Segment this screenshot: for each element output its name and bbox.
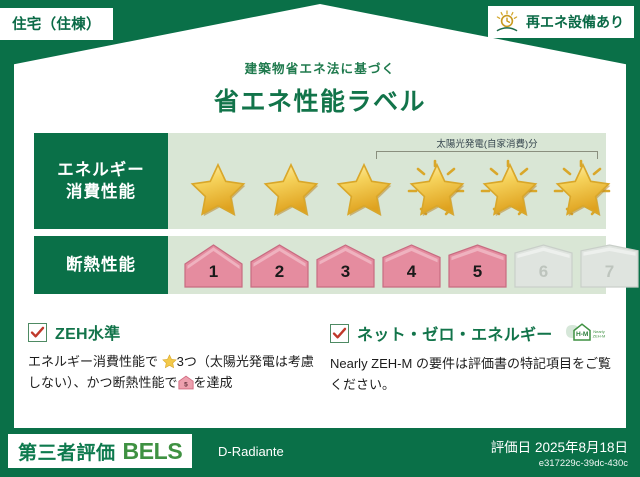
building-name: D-Radiante	[218, 444, 284, 459]
solar-annotation-label: 太陽光発電(自家消費)分	[376, 136, 598, 150]
nze-note-title: ネット・ゼロ・エネルギー	[357, 321, 553, 345]
nze-checkbox[interactable]	[330, 324, 349, 343]
page-title: 建築物省エネ法に基づく 省エネ性能ラベル	[0, 58, 640, 118]
insulation-grade-4: 4	[380, 242, 443, 290]
energy-performance-row: エネルギー 消費性能 太陽光発電(自家消費)分	[34, 133, 606, 229]
inline-star-icon	[162, 354, 177, 369]
checkmark-icon	[332, 326, 347, 341]
grade-number: 5	[446, 262, 509, 282]
insulation-label-text: 断熱性能	[66, 254, 136, 276]
star-icon	[408, 162, 466, 218]
insulation-grade-2: 2	[248, 242, 311, 290]
bels-badge: 第三者評価 BELS	[8, 434, 192, 468]
energy-performance-label: 住宅（住棟） 再エネ設備あり 建築物省エネ法に基づく 省エネ性能ラベル エネルギ…	[0, 0, 640, 477]
star-rating	[168, 157, 606, 223]
net-zero-energy-note: ネット・ゼロ・エネルギー H-M Nearly ZEH-M Nearly ZEH…	[330, 320, 616, 395]
checkmark-icon	[30, 325, 45, 340]
grade-number: 7	[578, 262, 640, 282]
sun-icon	[494, 10, 520, 34]
energy-label-line2: 消費性能	[66, 181, 136, 203]
insulation-grade-6: 6	[512, 242, 575, 290]
insulation-row-label: 断熱性能	[34, 236, 168, 294]
insulation-grade-3: 3	[314, 242, 377, 290]
star-icon	[189, 162, 247, 218]
category-tag: 住宅（住棟）	[0, 8, 113, 40]
zeh-body-part3: を達成	[194, 375, 233, 390]
insulation-grade-1: 1	[182, 242, 245, 290]
rating-rows: エネルギー 消費性能 太陽光発電(自家消費)分 断熱性能 1234567	[34, 133, 606, 301]
star-icon	[554, 162, 612, 218]
zeh-m-logo-icon: H-M Nearly ZEH-M	[563, 320, 607, 346]
nze-note-body: Nearly ZEH-M の要件は評価書の特記項目をご覧ください。	[330, 353, 616, 395]
evaluation-date: 評価日 2025年8月18日	[491, 436, 628, 456]
insulation-grade-scale: 1234567	[168, 242, 606, 290]
grade-number: 3	[314, 262, 377, 282]
insulation-row-body: 1234567	[168, 236, 606, 294]
star-icon	[481, 162, 539, 218]
title-subtitle: 建築物省エネ法に基づく	[0, 58, 640, 77]
evaluation-id: e317229c-39dc-430c	[491, 458, 628, 469]
zeh-checkbox[interactable]	[28, 323, 47, 342]
energy-row-body: 太陽光発電(自家消費)分	[168, 133, 606, 229]
zeh-body-part1: エネルギー消費性能で	[28, 354, 158, 369]
nze-note-header: ネット・ゼロ・エネルギー H-M Nearly ZEH-M	[330, 320, 616, 346]
star-filled	[182, 157, 252, 223]
title-main: 省エネ性能ラベル	[0, 82, 640, 118]
insulation-performance-row: 断熱性能 1234567	[34, 236, 606, 294]
star-solar	[547, 157, 617, 223]
energy-label-line1: エネルギー	[57, 159, 145, 181]
svg-text:ZEH-M: ZEH-M	[592, 333, 605, 338]
notes-section: ZEH水準 エネルギー消費性能で 3つ（太陽光発電は考慮しない）、かつ断熱性能で…	[28, 320, 616, 395]
star-filled	[255, 157, 325, 223]
energy-row-label: エネルギー 消費性能	[34, 133, 168, 229]
zeh-standard-note: ZEH水準 エネルギー消費性能で 3つ（太陽光発電は考慮しない）、かつ断熱性能で…	[28, 320, 314, 395]
footer-meta: 評価日 2025年8月18日 e317229c-39dc-430c	[491, 436, 628, 469]
renewable-energy-badge: 再エネ設備あり	[488, 6, 634, 38]
star-filled	[328, 157, 398, 223]
star-icon	[262, 162, 320, 218]
svg-text:H-M: H-M	[576, 331, 589, 338]
zeh-note-body: エネルギー消費性能で 3つ（太陽光発電は考慮しない）、かつ断熱性能で 5 を達成	[28, 351, 314, 393]
svg-text:5: 5	[184, 381, 188, 388]
insulation-grade-5: 5	[446, 242, 509, 290]
grade-number: 2	[248, 262, 311, 282]
footer-bar: 第三者評価 BELS D-Radiante 評価日 2025年8月18日 e31…	[0, 428, 640, 477]
zeh-note-header: ZEH水準	[28, 320, 314, 344]
grade-number: 4	[380, 262, 443, 282]
star-solar	[474, 157, 544, 223]
star-icon	[335, 162, 393, 218]
renewable-badge-label: 再エネ設備あり	[526, 12, 624, 32]
bels-en-label: BELS	[123, 438, 183, 465]
bels-jp-label: 第三者評価	[18, 438, 116, 465]
grade-number: 6	[512, 262, 575, 282]
inline-grade-house-icon: 5	[178, 375, 194, 390]
insulation-grade-7: 7	[578, 242, 640, 290]
star-solar	[401, 157, 471, 223]
zeh-note-title: ZEH水準	[55, 320, 121, 344]
grade-number: 1	[182, 262, 245, 282]
